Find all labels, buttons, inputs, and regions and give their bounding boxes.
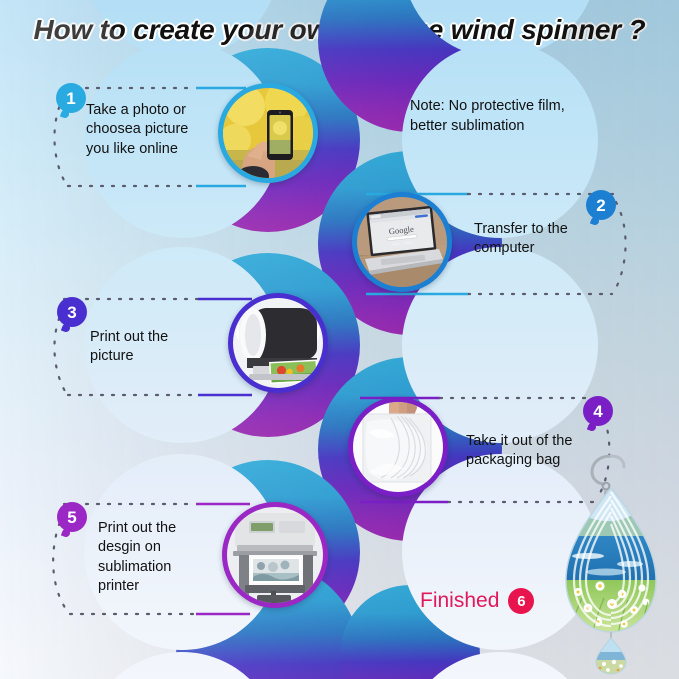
- finished-label: Finished: [420, 589, 499, 613]
- laptop-google-search-page-svg: Google: [357, 197, 447, 287]
- hand-holding-phone-autumn-photo-svg: [223, 88, 313, 178]
- step-3-text: Print out the picture: [90, 328, 230, 367]
- step-5-text: Print out the desgin on sublimation prin…: [98, 519, 238, 596]
- small-teardrop-pendant: [594, 638, 628, 676]
- step-5-badge: 5: [57, 502, 87, 532]
- step-3-badge: 3: [57, 297, 87, 327]
- step-2-text: Transfer to the computer: [474, 220, 624, 259]
- step-4-badge: 4: [583, 396, 613, 426]
- step-4-image: [348, 397, 448, 497]
- step-2-image: Google: [352, 192, 452, 292]
- page-title: How to create your own unique wind spinn…: [0, 14, 679, 46]
- large-sublimation-printer-svg: [227, 507, 323, 603]
- inkjet-printer-printing-photo-svg: [233, 298, 323, 388]
- step-3-image: [228, 293, 328, 393]
- step-1-badge: 1: [56, 83, 86, 113]
- finished-badge: 6: [508, 588, 534, 614]
- step-2-badge: 2: [586, 190, 616, 220]
- note-text: Note: No protective film, better sublima…: [410, 96, 670, 137]
- infographic-poster: How to create your own unique wind spinn…: [0, 0, 679, 679]
- step-1-text: Take a photo or choosea picture you like…: [86, 101, 231, 159]
- finished-label-group: Finished 6: [420, 588, 534, 614]
- wind-spinner-product: [548, 452, 674, 676]
- teardrop-spiral-body: [548, 488, 674, 636]
- hand-opening-clear-packaging-bag-svg: [353, 402, 443, 492]
- step-1-image: [218, 83, 318, 183]
